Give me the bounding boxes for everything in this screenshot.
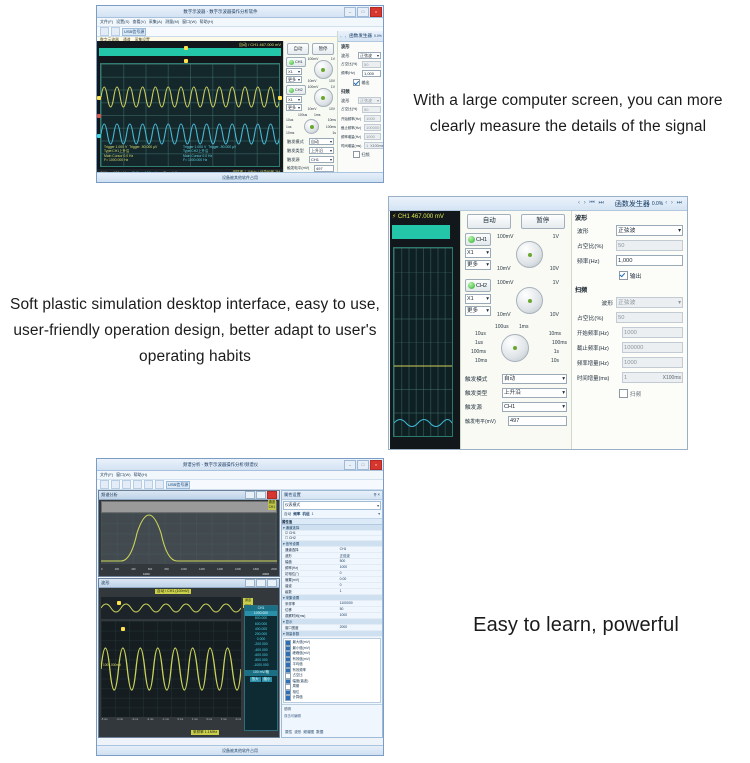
tab-spectrum[interactable]: 频谱图 xyxy=(303,730,314,735)
control-panel-top[interactable]: 自动 暂停 CH1 X1▾ 更多▾ 100mV 1V 10mV 10V CH2 … xyxy=(283,41,337,176)
checkbox-icon xyxy=(353,151,360,158)
ch2-volts-knob-middle[interactable] xyxy=(516,287,543,314)
close-button[interactable]: × xyxy=(370,460,382,470)
tool-expand-icon[interactable]: ▾ xyxy=(378,512,380,517)
menu-file-bottom[interactable]: 文件(F) xyxy=(100,472,113,478)
property-key: 通道选择 xyxy=(282,547,339,552)
checkbox-icon xyxy=(353,79,360,86)
oscilloscope-window-middle[interactable]: ‹ › ⏮ ⏭ 函数发生器 0.0% ‹ › ⏭ ⚡ CH1 467.000 m… xyxy=(388,196,688,450)
menu-acquire[interactable]: 采集(A) xyxy=(149,19,162,25)
ch1-knob-10v: 10V xyxy=(550,266,559,272)
tab-data[interactable]: 数据 xyxy=(316,730,323,735)
tool-frequency[interactable]: 频率 xyxy=(293,512,300,517)
ch1-probe-value: X1 xyxy=(288,69,293,75)
menu-file[interactable]: 文件(F) xyxy=(100,19,113,25)
waveform-overview[interactable] xyxy=(101,597,241,619)
zoom-out-button[interactable]: 缩小 xyxy=(262,677,273,682)
property-value[interactable]: 0 xyxy=(339,583,382,588)
time-knob-10ms: 10ms xyxy=(549,331,561,337)
duty-value: 50 xyxy=(364,62,368,68)
ch2-probe-select-middle[interactable]: X1▾ xyxy=(465,294,491,304)
spectrum-header: 频谱分析 xyxy=(99,491,279,500)
wave-value: 正弦波 xyxy=(360,53,372,59)
wave-label-middle: 波形 xyxy=(577,226,613,235)
ch2-level-marker[interactable] xyxy=(97,134,101,138)
ch2-trace xyxy=(101,124,280,144)
sweep-check-label: 扫频 xyxy=(362,152,370,158)
ch2-knob-100mv: 100mV xyxy=(497,280,513,286)
led-icon xyxy=(468,282,475,289)
stop-freq-value-middle: 100000 xyxy=(624,343,643,353)
trigger-type-select[interactable]: 上升沿▾ xyxy=(309,147,334,154)
ch1-toggle-middle[interactable]: CH1 xyxy=(465,233,491,246)
menubar[interactable]: 文件(F) 设置(S) 查看(V) 采集(A) 测量(M) 窗口(W) 帮助(H… xyxy=(97,18,383,27)
freq-step-value-middle: 1000 xyxy=(624,358,637,368)
property-value[interactable] xyxy=(339,531,382,535)
properties-title: 属性设置 xyxy=(284,492,301,498)
property-key: 窗口宽度 xyxy=(282,625,339,630)
waveform-subwindow[interactable]: 波形 自动 / CH1 (100mV) 通道 CH1 1000.000mV xyxy=(98,578,280,738)
duty-label-middle: 占空比(%) xyxy=(577,241,613,250)
trigger-mode-value: 自动 xyxy=(311,139,319,145)
time-step-label-middle: 时间增量(ms) xyxy=(577,374,619,382)
oscilloscope-window-top[interactable]: 数字示波器 - 数字示波器操作分析软件 – □ × 文件(F) 设置(S) 查看… xyxy=(96,5,384,183)
marketing-text-bottom: Easy to learn, powerful xyxy=(420,612,732,638)
trigger-level-value: 497 xyxy=(316,166,323,172)
control-panel-middle[interactable]: 自动 暂停 CH1 X1▾ 更多▾ 100mV 1V 10mV 10V CH2 … xyxy=(460,211,571,449)
sweep-wave-value-middle: 正弦波 xyxy=(618,298,635,308)
freq-label: 频率(Hz) xyxy=(341,71,359,76)
ch1-knob-label-10mv: 10mV xyxy=(308,79,317,83)
time-step-input[interactable]: 1X100ms xyxy=(364,142,384,149)
ch2-toggle-middle[interactable]: CH2 xyxy=(465,279,491,292)
trigger-type-value-middle: 上升沿 xyxy=(504,389,521,398)
duty-label: 占空比(%) xyxy=(341,62,359,67)
property-value[interactable]: 0 xyxy=(339,571,382,576)
freq-step-input-middle[interactable]: 1000 xyxy=(622,357,683,368)
property-value[interactable]: 1100000 xyxy=(339,601,382,606)
spectrum-legend: 通道 CH1 xyxy=(268,500,276,510)
xtick-0: 0 xyxy=(101,568,102,571)
trigger-level-input-middle[interactable]: 497 xyxy=(508,416,567,426)
property-value[interactable]: 正弦波 xyxy=(339,553,382,558)
waveform-cursor-marker[interactable] xyxy=(121,627,125,631)
overview-marker[interactable] xyxy=(184,46,188,50)
trigger-type-label-middle: 触发类型 xyxy=(465,389,499,397)
time-knob-label-10ms: 10ms xyxy=(328,118,336,122)
spectrum-plot[interactable] xyxy=(101,513,277,564)
waveform-x-ticks: -5 ms -4 ms -3 ms -2 ms -1 ms 0 ms 1 ms … xyxy=(101,718,241,721)
instrument-mode-select[interactable]: 仪表模式▾ xyxy=(283,501,381,510)
measurement-checkbox[interactable]: 计算值 xyxy=(285,695,379,701)
ch1-knob-10mv: 10mV xyxy=(497,266,511,272)
start-freq-input-middle[interactable]: 1000 xyxy=(622,327,683,338)
timebase-knob-middle[interactable] xyxy=(501,334,529,362)
menubar-bottom[interactable]: 文件(F) 窗口(W) 帮助(H) xyxy=(97,471,383,480)
time-step-input-middle[interactable]: 1X100ms xyxy=(622,372,683,383)
overview-trace xyxy=(101,597,241,619)
properties-toolbar[interactable]: 自动 频率 机组 1 ▾ xyxy=(282,511,382,519)
function-generator-panel-middle[interactable]: 波形 波形 正弦波▾ 占空比(%) 50 频率(Hz) 1,000 输出 扫频 … xyxy=(571,211,688,449)
xtick-2: 400 xyxy=(131,568,135,571)
ch1-more-select[interactable]: 更多▾ xyxy=(286,76,302,83)
properties-header: 属性设置 ⚲ × xyxy=(282,491,382,500)
output-checkbox[interactable]: 输出 xyxy=(353,79,370,86)
freq-input-middle[interactable]: 1,000 xyxy=(616,255,683,266)
tab-waveform[interactable]: 波形 xyxy=(294,730,301,735)
ch2-measurements: Trigger 1.000 V Trigger -90.000 µV Type:… xyxy=(183,145,236,163)
property-value[interactable] xyxy=(338,619,382,624)
sweep-section-title-middle: 扫频 xyxy=(572,283,688,295)
property-value[interactable]: 500 xyxy=(339,559,382,564)
save-icon[interactable] xyxy=(111,27,120,36)
led-icon xyxy=(289,60,294,65)
pause-button-middle[interactable]: 暂停 xyxy=(521,214,565,229)
properties-pin-icon[interactable]: ⚲ × xyxy=(373,492,380,498)
wx-7: 2 ms xyxy=(206,718,212,721)
overview-cursor[interactable] xyxy=(117,601,121,605)
scope-header-middle: ⚡ CH1 467.000 mV xyxy=(392,213,444,220)
wx-5: 0 ms xyxy=(178,718,184,721)
right-cursor-marker[interactable] xyxy=(278,96,282,100)
duty-input-middle[interactable]: 50 xyxy=(616,240,683,251)
menu-view[interactable]: 查看(V) xyxy=(132,19,145,25)
generator-title: 函数发生器 xyxy=(349,33,372,39)
menu-help-bottom[interactable]: 帮助(H) xyxy=(134,472,148,478)
usb-source-button-bottom[interactable]: USB信号源 xyxy=(166,481,190,489)
time-knob-label-1ms: 1ms xyxy=(314,113,320,117)
waveform-header: 波形 xyxy=(99,579,279,588)
property-value[interactable]: CH1 xyxy=(339,547,382,552)
spectrum-title: 频谱分析 xyxy=(101,492,118,498)
property-value[interactable] xyxy=(338,631,382,636)
sweep-wave-label-middle: 波形 xyxy=(577,298,613,307)
property-key: 波形 xyxy=(282,553,339,558)
wx-9: 4 ms xyxy=(235,718,241,721)
time-knob-label-100ms: 100ms xyxy=(326,125,336,129)
spectrum-maximize[interactable] xyxy=(256,491,266,499)
nav-arrows-left[interactable]: ‹ › xyxy=(340,34,347,39)
spectrum-xlabel-2000: 2000 xyxy=(262,572,269,576)
status-text: 设备被其他软件占用 xyxy=(222,175,258,181)
time-step-unit-middle: X100ms xyxy=(663,373,681,383)
status-bar-bottom: 设备被其他软件占用 xyxy=(97,745,383,755)
spectrum-close[interactable] xyxy=(267,491,277,499)
start-freq-value-middle: 1000 xyxy=(624,328,637,338)
sweep-duty-label-middle: 占空比(%) xyxy=(577,313,613,322)
property-key: 偏置(mV) xyxy=(282,577,339,582)
xtick-1: 200 xyxy=(115,568,119,571)
wx-1: -4 ms xyxy=(116,718,122,721)
trigger-type-label: 触发类型 xyxy=(287,148,306,154)
start-freq-label-middle: 开始频率(Hz) xyxy=(577,329,619,337)
ch1-probe-value-middle: X1 xyxy=(467,249,474,258)
auto-button[interactable]: 自动 xyxy=(287,43,309,55)
output-label-middle: 输出 xyxy=(630,271,642,280)
ch2-knob-10v: 10V xyxy=(550,312,559,318)
ch1-volts-knob-middle[interactable] xyxy=(516,241,543,268)
spectrum-subwindow[interactable]: 频谱分析 通道 CH1 0 200 400 600 800 1000 1200 … xyxy=(98,490,280,577)
menu-help[interactable]: 帮助(H) xyxy=(200,19,214,25)
ch1-toggle[interactable]: CH1 xyxy=(286,57,306,67)
ch2-label: CH2 xyxy=(295,88,303,92)
waveform-main-trace xyxy=(101,621,241,717)
window-title-bottom: 频谱分析 - 数字示波器操作分析/频谱仪 xyxy=(97,462,344,468)
vertical-scale-column[interactable]: CH1 1000.000 800.000 600.000 400.000 200… xyxy=(244,605,278,731)
sweep-wave-select-middle[interactable]: 正弦波▾ xyxy=(616,297,683,308)
ch2-trace-middle xyxy=(394,420,452,427)
col-property: 属性 xyxy=(282,519,289,524)
waveform-grid-middle[interactable] xyxy=(393,247,453,437)
xtick-8: 1600 xyxy=(235,568,241,571)
sweep-checkbox-middle[interactable]: 扫频 xyxy=(619,389,642,398)
sweep-wave-select[interactable]: 正弦波▾ xyxy=(358,97,381,104)
pause-button[interactable]: 暂停 xyxy=(312,43,334,55)
property-value[interactable]: 0.00 xyxy=(339,577,382,582)
time-knob-1us: 1us xyxy=(475,340,483,346)
stop-freq-label-middle: 截止频率(Hz) xyxy=(577,344,619,352)
property-value[interactable]: 2000 xyxy=(339,625,382,630)
property-group-row[interactable]: ▾ 测量参数 xyxy=(282,631,382,637)
grid-rows[interactable]: ▾ 通道选择☑ CH1☐ CH2▾ 信号设置通道选择CH1波形正弦波幅值500频… xyxy=(282,525,382,637)
time-knob-label-1us: 1us xyxy=(286,125,291,129)
waveform-maximize[interactable] xyxy=(256,579,266,587)
trigger-source-value-middle: CH1 xyxy=(504,403,515,412)
tool-group[interactable]: 机组 xyxy=(302,512,309,517)
maximize-button[interactable]: □ xyxy=(357,7,369,17)
wx-8: 3 ms xyxy=(221,718,227,721)
marketing-text-middle: Soft plastic simulation desktop interfac… xyxy=(2,292,388,370)
maximize-button[interactable]: □ xyxy=(357,460,369,470)
trigger-type-select-middle[interactable]: 上升沿▾ xyxy=(502,388,567,398)
xtick-7: 1400 xyxy=(217,568,223,571)
ch1-label: CH1 xyxy=(295,60,303,64)
waveform-minimize[interactable] xyxy=(245,579,255,587)
property-value[interactable]: 1000 xyxy=(339,565,382,570)
property-value[interactable] xyxy=(339,536,382,540)
wave-section-title: 波形 xyxy=(338,42,384,51)
ch1-knob-1v: 1V xyxy=(553,234,559,240)
scope-display-middle[interactable]: ⚡ CH1 467.000 mV xyxy=(390,211,460,449)
sweep-checkbox[interactable]: 扫频 xyxy=(353,151,370,158)
table-icon[interactable] xyxy=(144,480,153,489)
freq-value: 1,000 xyxy=(364,71,374,77)
window-controls[interactable]: – □ × xyxy=(344,7,383,17)
trigger-mode-select-middle[interactable]: 自动▾ xyxy=(502,374,567,384)
tool-count[interactable]: 1 xyxy=(312,512,314,517)
window-title: 数字示波器 - 数字示波器操作分析软件 xyxy=(97,9,344,15)
waveform-plot[interactable]: 1000.000mV xyxy=(101,621,241,717)
checkbox-icon xyxy=(285,695,291,701)
properties-panel[interactable]: 属性设置 ⚲ × 仪表模式▾ 自动 频率 机组 1 ▾ 属性 值 ▾ 通道选择☑… xyxy=(281,490,383,738)
led-icon xyxy=(289,88,294,93)
overview-bar-middle[interactable] xyxy=(392,225,450,239)
time-knob-label-10us: 10us xyxy=(286,118,293,122)
sweep-duty-input[interactable]: 50 xyxy=(362,106,381,113)
property-value[interactable] xyxy=(338,541,382,546)
time-knob-100ms: 100ms xyxy=(552,340,567,346)
trigger-level-marker[interactable] xyxy=(97,114,101,118)
sweep-check-label-middle: 扫频 xyxy=(630,389,642,398)
spectrum-minimize[interactable] xyxy=(245,491,255,499)
scope-header-text-middle: CH1 467.000 mV xyxy=(398,214,444,220)
property-key: 初相位(°) xyxy=(282,571,339,576)
open-icon[interactable] xyxy=(100,27,109,36)
marketing-text-top: With a large computer screen, you can mo… xyxy=(392,88,744,140)
note-title: 说明 xyxy=(282,705,382,712)
sample-rate-badge: 采样率 1.1MHz xyxy=(191,730,219,735)
trigger-level-label: 触发电平(mV) xyxy=(287,166,311,171)
ch1-more-select-middle[interactable]: 更多▾ xyxy=(465,260,491,270)
freq-input[interactable]: 1,000 xyxy=(362,70,381,77)
ch1-volts-knob[interactable] xyxy=(314,60,333,79)
trigger-source-value: CH1 xyxy=(311,157,319,163)
stop-freq-input-middle[interactable]: 100000 xyxy=(622,342,683,353)
tool-auto[interactable]: 自动 xyxy=(284,512,291,517)
window-controls-bottom[interactable]: – □ × xyxy=(344,460,383,470)
forward-icon[interactable] xyxy=(111,480,120,489)
menu-window[interactable]: 窗口(W) xyxy=(182,19,196,25)
generator-progress: 0.0% xyxy=(374,34,382,38)
ch1-level-marker[interactable] xyxy=(97,96,101,100)
properties-grid[interactable]: 属性 值 ▾ 通道选择☑ CH1☐ CH2▾ 信号设置通道选择CH1波形正弦波幅… xyxy=(282,519,382,637)
menu-measure[interactable]: 测量(M) xyxy=(165,19,179,25)
trigger-type-value: 上升沿 xyxy=(311,148,323,154)
duty-value-middle: 50 xyxy=(618,241,624,251)
wave-label: 波形 xyxy=(341,53,355,59)
trigger-mode-select[interactable]: 自动▾ xyxy=(309,138,334,145)
property-value[interactable] xyxy=(338,525,382,530)
spectrum-analyzer-window[interactable]: 频谱分析 - 数字示波器操作分析/频谱仪 – □ × 文件(F) 窗口(W) 帮… xyxy=(96,458,384,756)
trigger-source-select[interactable]: CH1▾ xyxy=(309,156,334,163)
property-value[interactable]: 1 xyxy=(339,589,382,594)
menu-window-bottom[interactable]: 窗口(W) xyxy=(116,472,130,478)
output-label: 输出 xyxy=(362,80,370,86)
status-text-bottom: 设备被其他软件占用 xyxy=(222,748,258,754)
start-freq-value: 1000 xyxy=(366,116,375,122)
freq-label-middle: 频率(Hz) xyxy=(577,256,613,265)
stop-freq-input[interactable]: 100000 xyxy=(364,124,381,131)
scale-unit: 100 mV/格 xyxy=(245,670,277,675)
ch1-probe-select-middle[interactable]: X1▾ xyxy=(465,248,491,258)
spectrum-trace xyxy=(101,513,277,564)
trigger-source-select-middle[interactable]: CH1▾ xyxy=(502,402,567,412)
trigger-level-input[interactable]: 497 xyxy=(314,165,334,172)
auto-button-middle[interactable]: 自动 xyxy=(467,214,511,229)
property-key: ▾ 采集设置 xyxy=(282,595,338,600)
ch1-knob-label-1v: 1V xyxy=(331,57,335,61)
menu-settings[interactable]: 设置(S) xyxy=(116,19,129,25)
ch1-more-value-middle: 更多 xyxy=(467,261,478,270)
xtick-6: 1200 xyxy=(199,568,205,571)
zoom-in-button[interactable]: 放大 xyxy=(250,677,261,682)
trigger-mode-label-middle: 触发模式 xyxy=(465,375,499,383)
freq-step-label: 频率增量(Hz) xyxy=(341,134,361,139)
minimize-button[interactable]: – xyxy=(344,7,356,17)
waveform-close[interactable] xyxy=(267,579,277,587)
time-knob-1s: 1s xyxy=(554,349,559,355)
trigger-mode-label: 触发模式 xyxy=(287,139,306,145)
ch2-more-select[interactable]: 更多▾ xyxy=(286,104,302,111)
overview-bar[interactable] xyxy=(99,48,281,56)
scope-display-top[interactable]: 自动 / CH1 467.000 mV Trigger 1.000 V Trig… xyxy=(97,41,283,176)
xtick-5: 1000 xyxy=(181,568,187,571)
timebase-knob[interactable] xyxy=(304,119,319,134)
property-key: ▾ 显示 xyxy=(282,619,338,624)
waveform-grid[interactable]: Trigger 1.000 V Trigger -90.000 µV Type:… xyxy=(100,63,280,167)
property-value[interactable] xyxy=(338,595,382,600)
property-value[interactable]: 1000 xyxy=(339,613,382,618)
measurement-label: 计算值 xyxy=(293,695,303,700)
checkbox-icon xyxy=(619,389,628,398)
generator-title-middle: 函数发生器 xyxy=(615,199,650,209)
measurement-checkbox-list[interactable]: 最大值(mV)最小值(mV)峰峰值(mV)有效值(mV)平均值有效频率占空比幅度… xyxy=(283,638,381,703)
sweep-section-title: 扫频 xyxy=(338,87,384,96)
duty-input[interactable]: 50 xyxy=(362,61,381,68)
property-key: ☑ CH1 xyxy=(282,531,339,535)
wx-0: -5 ms xyxy=(101,718,107,721)
close-button[interactable]: × xyxy=(370,7,382,17)
cursor-readout: 1000.000mV xyxy=(103,663,121,667)
function-generator-panel-top[interactable]: ‹ › 函数发生器 0.0% 波形 波形 正弦波▾ 占空比(%) 50 频率(H… xyxy=(337,31,384,176)
ch1-probe-select[interactable]: X1▾ xyxy=(286,68,302,75)
wave-select-middle[interactable]: 正弦波▾ xyxy=(616,225,683,236)
time-step-label: 时间增量(ms) xyxy=(341,143,361,148)
ch2-toggle[interactable]: CH2 xyxy=(286,85,306,95)
nav-arrows-prev[interactable]: ‹ › ⏮ ⏭ xyxy=(578,200,605,207)
titlebar-bottom: 频谱分析 - 数字示波器操作分析/频谱仪 – □ × xyxy=(97,459,383,471)
trigger-source-label: 触发源 xyxy=(287,157,306,163)
property-key: 幅值 xyxy=(282,559,339,564)
spectrum-xlabel-1000: 1000 xyxy=(143,572,150,576)
time-knob-10s: 10s xyxy=(551,358,559,364)
time-knob-1ms: 1ms xyxy=(519,324,528,330)
toolbar-bottom[interactable]: USB信号源 xyxy=(97,480,383,490)
ch2-probe-select[interactable]: X1▾ xyxy=(286,96,302,103)
nav-arrows-next[interactable]: ‹ › ⏭ xyxy=(665,200,683,207)
settings-icon[interactable] xyxy=(155,480,164,489)
time-knob-100us: 100us xyxy=(495,324,509,330)
property-key: ☐ CH2 xyxy=(282,536,339,540)
minimize-button[interactable]: – xyxy=(344,460,356,470)
freq-step-input[interactable]: 1000 xyxy=(364,133,381,140)
usb-source-button[interactable]: USB信号源 xyxy=(122,28,146,36)
sweep-duty-input-middle[interactable]: 50 xyxy=(616,312,683,323)
ch2-knob-label-100mv: 100mV xyxy=(308,85,319,89)
time-step-value: 1 xyxy=(366,143,368,149)
xtick-9: 1800 xyxy=(253,568,259,571)
property-value[interactable]: 50 xyxy=(339,607,382,612)
ch2-more-select-middle[interactable]: 更多▾ xyxy=(465,306,491,316)
spectrum-scrollbar[interactable] xyxy=(101,501,277,513)
back-icon[interactable] xyxy=(100,480,109,489)
properties-tabs[interactable]: 属性 波形 频谱图 数据 xyxy=(282,729,382,736)
start-freq-input[interactable]: 1000 xyxy=(364,115,381,122)
property-key: 频率(Hz) xyxy=(282,565,339,570)
property-key: ▾ 通道选择 xyxy=(282,525,338,530)
sweep-wave-label: 波形 xyxy=(341,98,355,104)
grid-icon[interactable] xyxy=(122,480,131,489)
ch2-volts-knob[interactable] xyxy=(314,88,333,107)
tab-properties[interactable]: 属性 xyxy=(285,730,292,735)
trigger-source-label-middle: 触发源 xyxy=(465,403,499,411)
wave-select[interactable]: 正弦波▾ xyxy=(358,52,381,59)
chart-icon[interactable] xyxy=(133,480,142,489)
led-icon xyxy=(468,236,475,243)
output-checkbox-middle[interactable]: 输出 xyxy=(619,271,642,280)
scale-value: -1000.000 xyxy=(245,663,277,668)
generator-progress-middle: 0.0% xyxy=(652,201,663,207)
